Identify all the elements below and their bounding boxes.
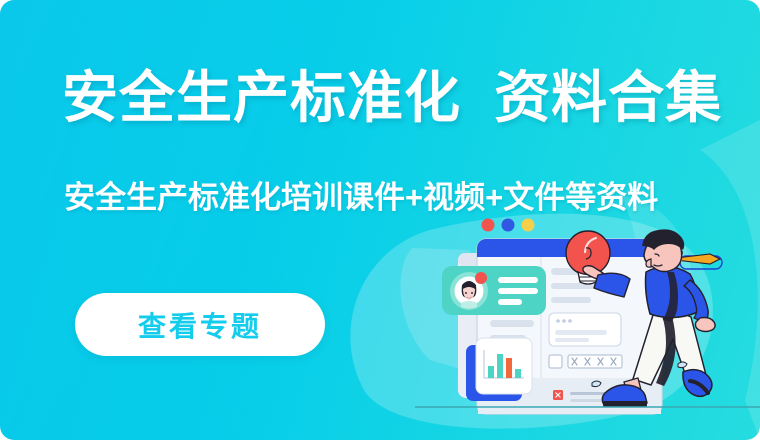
- view-topic-button-label: 查看专题: [138, 305, 262, 345]
- bar-chart-card: [466, 338, 532, 401]
- promo-banner: 安全生产标准化 资料合集 安全生产标准化培训课件+视频+文件等资料 查看专题: [0, 0, 760, 440]
- form-row: [549, 355, 622, 368]
- page-title: 安全生产标准化 资料合集: [62, 68, 722, 128]
- view-topic-button[interactable]: 查看专题: [75, 293, 325, 356]
- profile-card: [442, 266, 546, 315]
- avatar: [461, 281, 477, 309]
- window-dots: [482, 219, 535, 232]
- window-inner-card: [549, 313, 621, 346]
- page-subtitle: 安全生产标准化培训课件+视频+文件等资料: [64, 172, 658, 217]
